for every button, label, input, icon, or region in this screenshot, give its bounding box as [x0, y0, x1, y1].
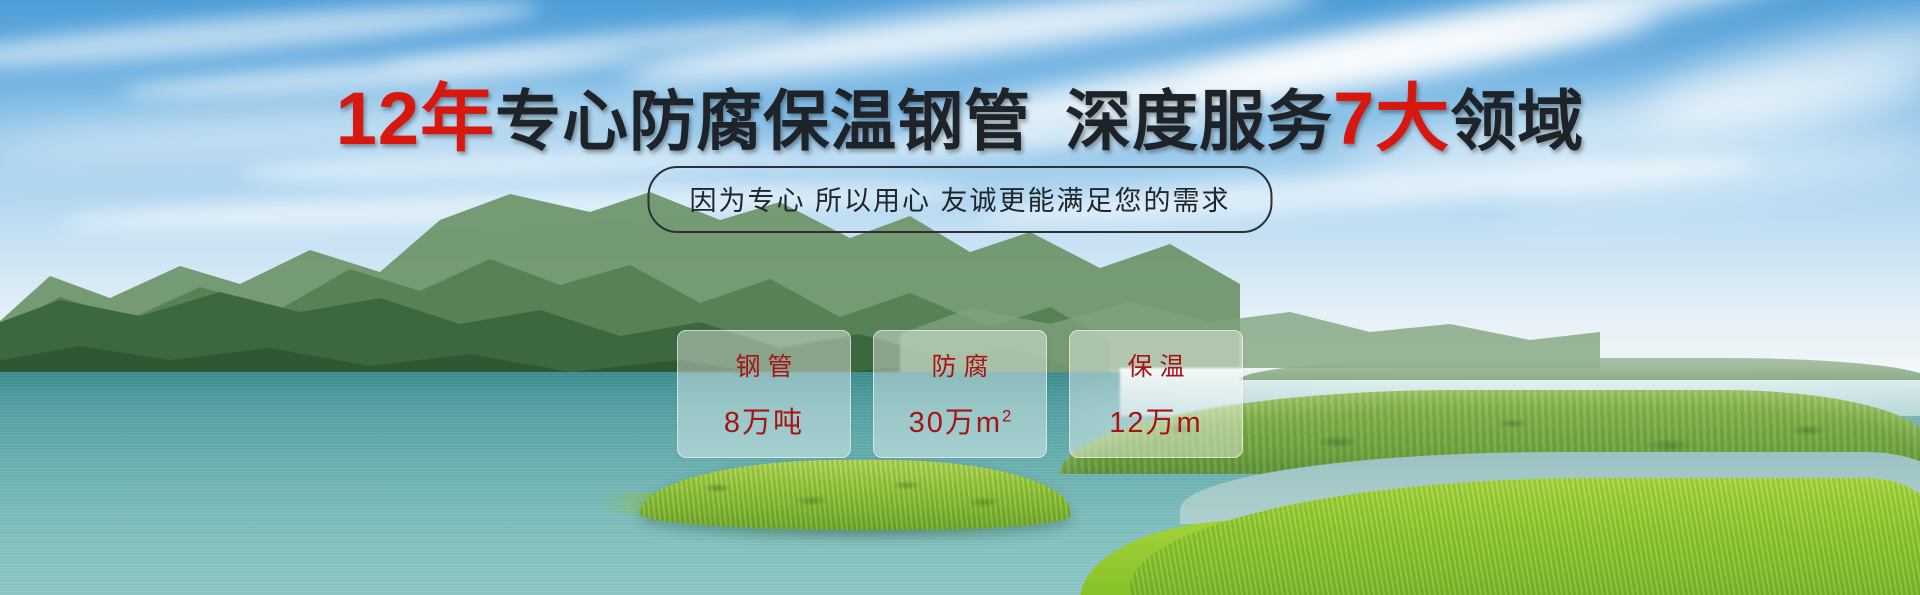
stat-card-value: 12万m	[1109, 399, 1202, 441]
headline-red-unit-2: 大	[1375, 77, 1450, 160]
stat-card-title: 保温	[1120, 347, 1191, 383]
stat-card-group: 钢管 8万吨 防腐 30万m2 保温 12万m	[677, 330, 1243, 458]
headline: 12年专心防腐保温钢管深度服务7大领域	[0, 82, 1920, 156]
stat-card-value-base: 8万吨	[724, 407, 804, 439]
stat-card-anticorrosion[interactable]: 防腐 30万m2	[873, 330, 1047, 458]
headline-red-number-1: 12	[336, 77, 420, 160]
headline-dark-part-2: 深度服务	[1065, 84, 1333, 158]
stat-card-value-base: 12万m	[1109, 407, 1202, 439]
headline-red-unit-1: 年	[420, 77, 495, 160]
stat-card-insulation[interactable]: 保温 12万m	[1069, 330, 1243, 458]
stat-card-value: 30万m2	[909, 399, 1012, 441]
headline-dark-part-1: 专心防腐保温钢管	[495, 84, 1031, 158]
stat-card-steel-pipe[interactable]: 钢管 8万吨	[677, 330, 851, 458]
stat-card-value: 8万吨	[724, 399, 804, 441]
stat-card-title: 钢管	[728, 347, 799, 383]
headline-dark-part-3: 领域	[1450, 84, 1584, 158]
stat-card-value-base: 30万m	[909, 407, 1002, 439]
stat-card-value-superscript: 2	[1002, 406, 1011, 425]
headline-red-number-2: 7	[1333, 77, 1375, 160]
stat-card-title: 防腐	[924, 347, 995, 383]
subtitle-pill: 因为专心 所以用心 友诚更能满足您的需求	[647, 166, 1272, 233]
hero-banner: 12年专心防腐保温钢管深度服务7大领域 因为专心 所以用心 友诚更能满足您的需求…	[0, 0, 1920, 595]
